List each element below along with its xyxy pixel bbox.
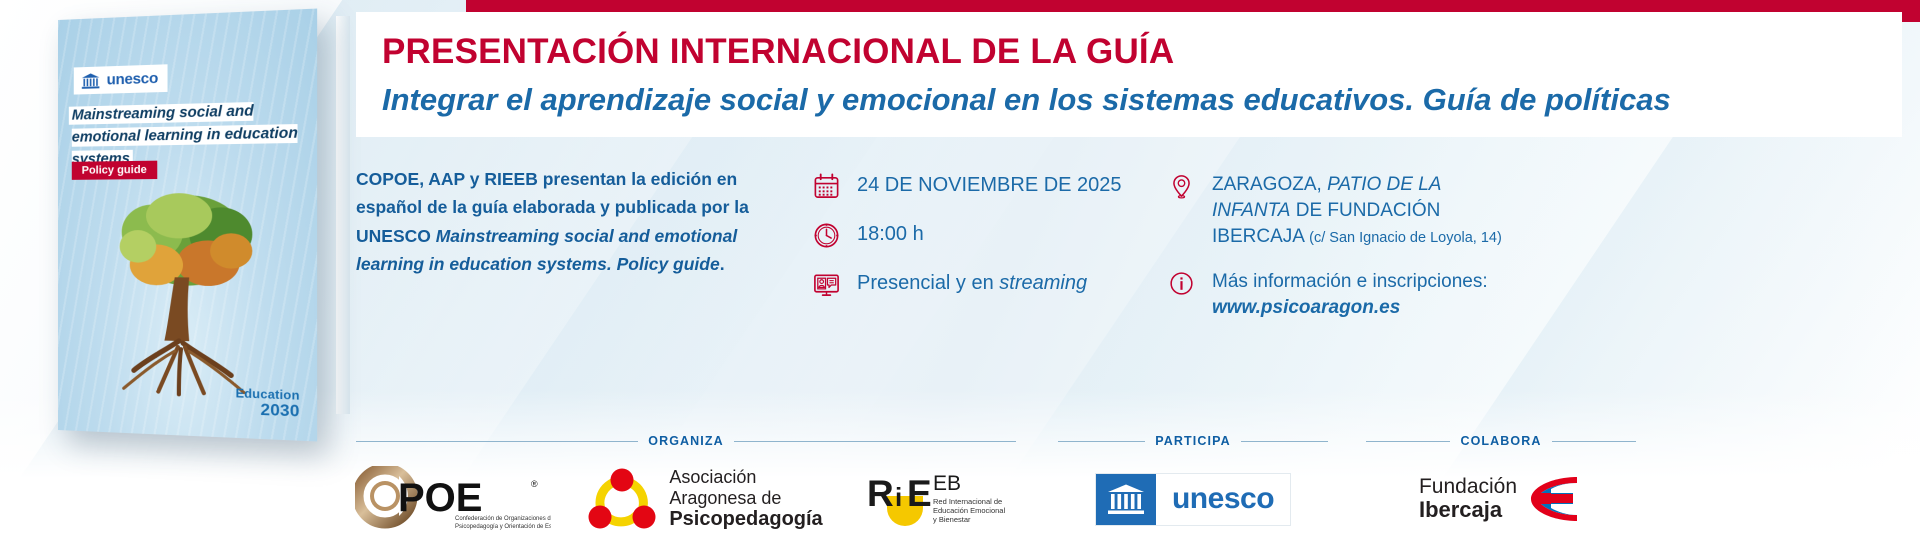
date-text: 24 DE NOVIEMBRE DE 2025 <box>857 171 1122 199</box>
time-row: 18:00 h <box>811 220 1166 250</box>
book-tree-head-illustration <box>78 186 296 402</box>
aap-line1: Asociación <box>669 467 822 488</box>
aap-text: Asociación Aragonesa de Psicopedagogía <box>669 467 822 531</box>
participa-rule <box>1241 441 1328 442</box>
participa-block: PARTICIPA <box>1058 434 1328 536</box>
intro-column: COPOE, AAP y RIEEB presentan la edición … <box>356 165 811 340</box>
book-pages-edge <box>336 16 350 414</box>
ibercaja-line1: Fundación <box>1419 476 1517 498</box>
unesco-temple-icon <box>1096 474 1156 525</box>
location-row: ZARAGOZA, PATIO DE LA INFANTA DE FUNDACI… <box>1166 171 1506 249</box>
participa-logos: unesco <box>1058 462 1328 536</box>
ibercaja-line2: Ibercaja <box>1419 498 1517 521</box>
location-text: ZARAGOZA, PATIO DE LA INFANTA DE FUNDACI… <box>1212 171 1502 249</box>
date-row: 24 DE NOVIEMBRE DE 2025 <box>811 171 1166 201</box>
svg-text:EB: EB <box>933 472 961 495</box>
format-text: Presencial y en streaming <box>857 269 1087 297</box>
organiza-label: ORGANIZA <box>648 434 723 448</box>
organiza-rule <box>356 441 638 442</box>
ibercaja-text: Fundación Ibercaja <box>1419 476 1517 522</box>
intro-text-part3: . <box>720 254 725 274</box>
copoe-logo: POE ® Confederación de Organizaciones de… <box>355 466 551 532</box>
location-org-part2: IBERCAJA <box>1212 226 1309 247</box>
copoe-caption-line2: Psicopedagogía y Orientación de España <box>455 524 551 530</box>
location-street-address: (c/ San Ignacio de Loyola, 14) <box>1309 230 1502 246</box>
format-row: Presencial y en streaming <box>811 269 1166 299</box>
more-info-text: Más información e inscripciones: www.psi… <box>1212 268 1488 321</box>
rieeb-caption-line3: y Bienestar <box>933 515 971 524</box>
aap-triangle-icon <box>585 465 659 533</box>
map-pin-icon <box>1166 171 1196 201</box>
book-cover-image: unesco Mainstreaming social and emotiona… <box>40 10 340 440</box>
aap-logo: Asociación Aragonesa de Psicopedagogía <box>585 465 822 533</box>
colabora-rule <box>1552 441 1636 442</box>
unesco-wordmark: unesco <box>1156 482 1290 516</box>
book-front-cover: unesco Mainstreaming social and emotiona… <box>58 9 317 442</box>
book-unesco-wordmark: unesco <box>107 70 158 89</box>
rieeb-logo: R i E EB Red Internacional de Educación … <box>857 466 1017 532</box>
location-city: ZARAGOZA, <box>1212 174 1327 195</box>
when-column: 24 DE NOVIEMBRE DE 2025 18:00 h <box>811 165 1166 340</box>
website-url[interactable]: www.psicoaragon.es <box>1212 297 1400 318</box>
format-text-italic: streaming <box>999 272 1087 294</box>
ibercaja-symbol-icon <box>1527 477 1583 521</box>
colabora-logos: Fundación Ibercaja <box>1366 462 1636 536</box>
organiza-rule <box>734 441 1016 442</box>
title-card: PRESENTACIÓN INTERNACIONAL DE LA GUÍA In… <box>356 12 1902 137</box>
rieeb-caption-line1: Red Internacional de <box>933 497 1002 506</box>
format-text-plain: Presencial y en <box>857 272 999 294</box>
colabora-block: COLABORA Fundación Ibercaja <box>1366 434 1636 536</box>
calendar-icon <box>811 171 841 201</box>
unesco-logo: unesco <box>1095 473 1291 526</box>
webinar-screen-icon <box>811 269 841 299</box>
participa-label: PARTICIPA <box>1155 434 1230 448</box>
sponsor-footer: ORGANIZA <box>356 434 1902 536</box>
unesco-temple-icon <box>81 72 101 89</box>
book-unesco-logo: unesco <box>74 64 167 94</box>
book-policy-guide-badge: Policy guide <box>72 161 157 180</box>
organiza-block: ORGANIZA <box>356 434 1016 536</box>
clock-icon <box>811 220 841 250</box>
svg-text:R: R <box>867 473 894 514</box>
more-info-label: Más información e inscripciones: <box>1212 271 1488 292</box>
page-subtitle: Integrar el aprendizaje social y emocion… <box>382 83 1876 117</box>
participa-rule <box>1058 441 1145 442</box>
location-venue-part2: INFANTA <box>1212 200 1290 221</box>
page-title: PRESENTACIÓN INTERNACIONAL DE LA GUÍA <box>382 34 1876 71</box>
colabora-rule <box>1366 441 1450 442</box>
event-banner: unesco Mainstreaming social and emotiona… <box>0 0 1920 550</box>
intro-paragraph: COPOE, AAP y RIEEB presentan la edición … <box>356 165 771 278</box>
aap-line3: Psicopedagogía <box>669 508 822 531</box>
content-columns: COPOE, AAP y RIEEB presentan la edición … <box>356 165 1902 340</box>
organiza-header: ORGANIZA <box>356 434 1016 448</box>
organiza-logos: POE ® Confederación de Organizaciones de… <box>356 462 1016 536</box>
info-row: Más información e inscripciones: www.psi… <box>1166 268 1506 321</box>
where-column: ZARAGOZA, PATIO DE LA INFANTA DE FUNDACI… <box>1166 165 1506 340</box>
copoe-caption-line1: Confederación de Organizaciones de <box>455 516 551 522</box>
svg-text:®: ® <box>531 479 538 489</box>
aap-line2: Aragonesa de <box>669 488 822 509</box>
colabora-header: COLABORA <box>1366 434 1636 448</box>
participa-header: PARTICIPA <box>1058 434 1328 448</box>
svg-text:E: E <box>907 473 932 514</box>
colabora-label: COLABORA <box>1460 434 1541 448</box>
svg-text:i: i <box>895 482 902 512</box>
ibercaja-logo: Fundación Ibercaja <box>1419 476 1583 522</box>
svg-text:POE: POE <box>398 476 482 520</box>
location-org-part1: DE FUNDACIÓN <box>1290 200 1440 221</box>
location-venue-part1: PATIO DE LA <box>1327 174 1441 195</box>
time-text: 18:00 h <box>857 220 924 248</box>
book-education-2030-logo: Education 2030 <box>236 386 300 422</box>
info-circle-icon <box>1166 268 1196 298</box>
rieeb-caption-line2: Educación Emocional <box>933 506 1005 515</box>
